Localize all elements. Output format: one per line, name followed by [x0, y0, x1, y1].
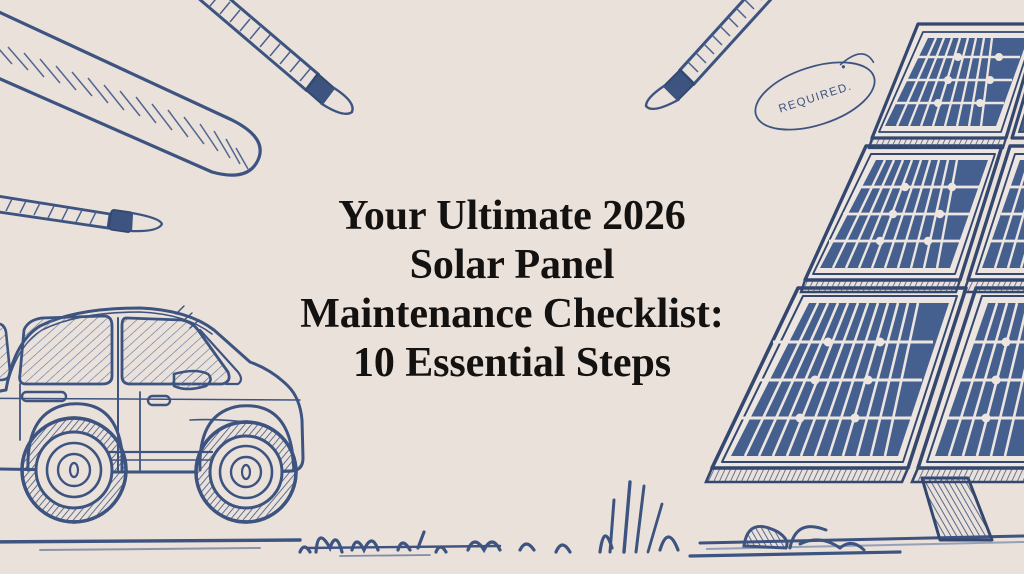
car-front-wheel [196, 422, 296, 522]
banner-poster: REQUIRED. [0, 0, 1024, 574]
illustration-canvas: REQUIRED. [0, 0, 1024, 574]
car-rear-wheel [22, 418, 126, 522]
